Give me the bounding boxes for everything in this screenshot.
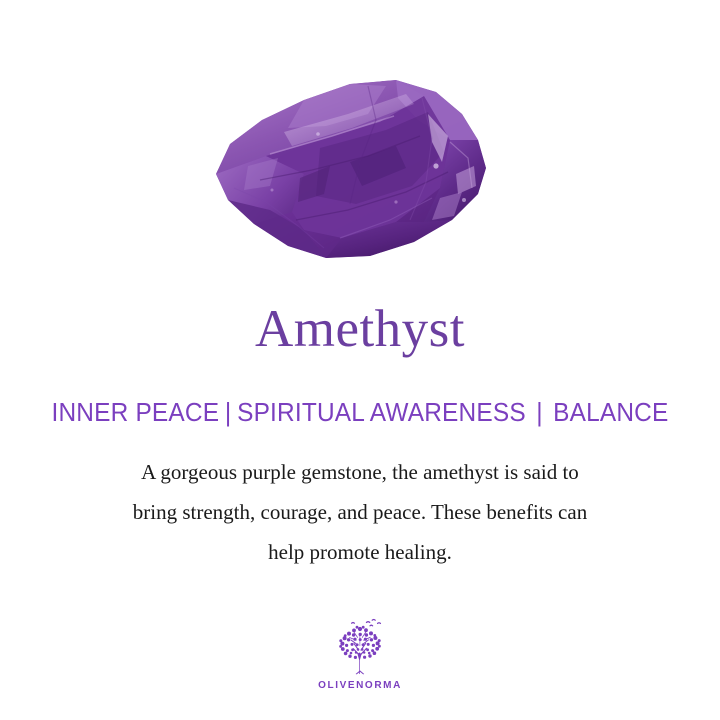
description-line-3: help promote healing.	[60, 532, 660, 572]
brand-wordmark: OLIVENORMA	[0, 680, 720, 691]
page-title: Amethyst	[0, 300, 720, 358]
keyword-balance: BALANCE	[553, 397, 668, 427]
description-line-2: bring strength, courage, and peace. Thes…	[60, 492, 660, 532]
description-line-1: A gorgeous purple gemstone, the amethyst…	[60, 452, 660, 492]
keyword-line: INNER PEACE|SPIRITUAL AWARENESS|BALANCE	[22, 396, 699, 428]
keyword-spiritual-awareness: SPIRITUAL AWARENESS	[237, 397, 526, 427]
hero-image-container	[0, 70, 720, 270]
keyword-separator-1: |	[219, 397, 237, 427]
stone-facets	[216, 80, 486, 258]
amethyst-info-card: Amethyst INNER PEACE|SPIRITUAL AWARENESS…	[0, 0, 720, 720]
bird-glyphs	[352, 620, 381, 626]
keyword-separator-2: |	[526, 397, 553, 427]
tree-of-life-logo-icon	[329, 616, 391, 678]
raw-amethyst-stone-icon	[200, 70, 520, 270]
description-paragraph: A gorgeous purple gemstone, the amethyst…	[60, 452, 660, 572]
brand-logo-block: OLIVENORMA	[0, 616, 720, 691]
keyword-inner-peace: INNER PEACE	[51, 397, 219, 427]
